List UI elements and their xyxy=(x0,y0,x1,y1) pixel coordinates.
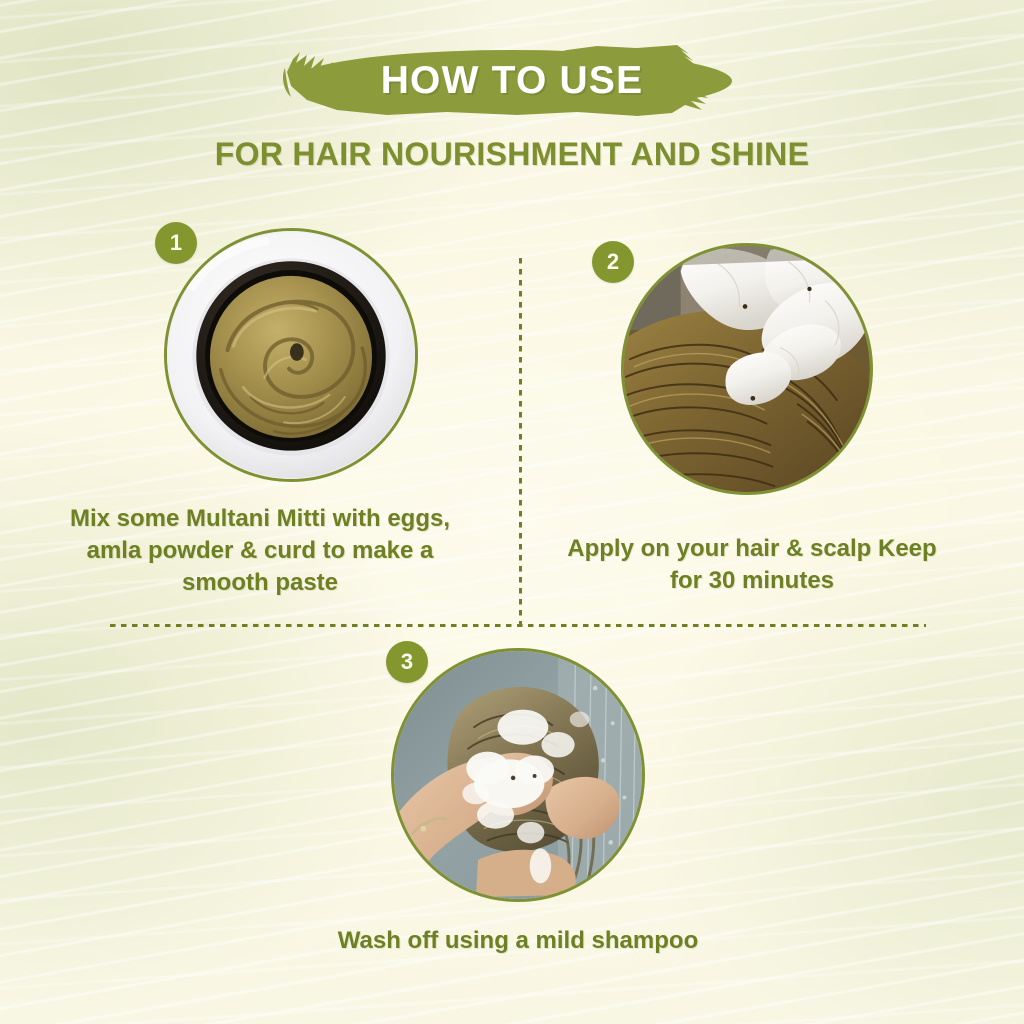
step-1-number-badge: 1 xyxy=(155,222,197,264)
step-2-number-badge: 2 xyxy=(592,241,634,283)
page-title: HOW TO USE xyxy=(381,59,644,103)
horizontal-dashed-divider xyxy=(110,624,926,627)
step-3-number-badge: 3 xyxy=(386,641,428,683)
step-2-image-frame xyxy=(621,243,873,495)
washing-hair-with-shampoo-photo xyxy=(394,651,642,899)
how-to-use-infographic: HOW TO USE FOR HAIR NOURISHMENT AND SHIN… xyxy=(0,0,1024,1024)
vertical-dashed-divider xyxy=(519,258,522,626)
step-3-image-frame xyxy=(391,648,645,902)
step-1-caption: Mix some Multani Mitti with eggs, amla p… xyxy=(60,503,460,599)
step-2-caption: Apply on your hair & scalp Keep for 30 m… xyxy=(552,533,952,597)
step-3: 3 Wash off using a mild shampoo xyxy=(0,0,254,254)
step-1-image-frame xyxy=(164,228,418,482)
applying-paste-to-hair-gloved-hands-photo xyxy=(624,246,870,492)
step-3-caption: Wash off using a mild shampoo xyxy=(318,925,718,957)
multani-mitti-paste-bowl-photo xyxy=(167,231,415,479)
